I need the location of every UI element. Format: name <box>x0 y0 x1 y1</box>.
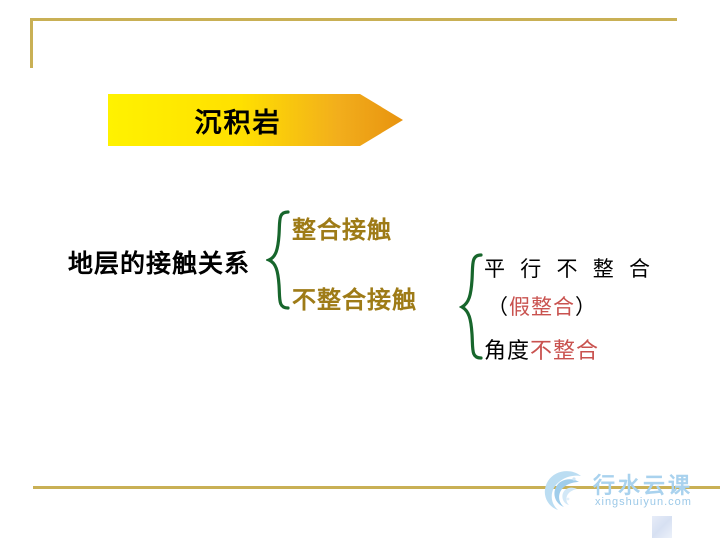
root-node-label: 地层的接触关系 <box>68 244 250 280</box>
brace-secondary-icon <box>459 252 485 362</box>
pseudo-conformity-emphasis: 假整合 <box>509 295 575 319</box>
paren-open: （ <box>487 295 509 319</box>
branch-label-unconformable: 不整合接触 <box>292 280 417 315</box>
wave-swirl-icon <box>541 466 589 514</box>
watermark-logo: 行水云课 xingshuiyun.com <box>541 466 716 522</box>
angular-prefix: 角度 <box>484 338 530 363</box>
banner-title-text: 沉积岩 <box>108 94 368 146</box>
paren-close: ） <box>575 295 597 319</box>
frame-line-left <box>30 18 33 68</box>
sub-label-pseudo-conformity: （假整合） <box>487 291 597 321</box>
frame-line-top <box>30 18 677 21</box>
sub-label-parallel-unconformity: 平 行 不 整 合 <box>484 253 655 283</box>
corner-artifact-swatch <box>652 516 672 538</box>
slide-canvas: 沉积岩 地层的接触关系 整合接触 不整合接触 平 行 不 整 合 （假整合） 角… <box>0 0 720 540</box>
title-arrow-banner: 沉积岩 <box>108 94 403 146</box>
brace-primary-icon <box>266 209 292 312</box>
branch-label-conformable: 整合接触 <box>292 210 392 245</box>
angular-unconformity-emphasis: 不整合 <box>530 338 599 363</box>
sub-label-angular-unconformity: 角度不整合 <box>484 333 599 365</box>
watermark-domain-text: xingshuiyun.com <box>595 496 692 508</box>
